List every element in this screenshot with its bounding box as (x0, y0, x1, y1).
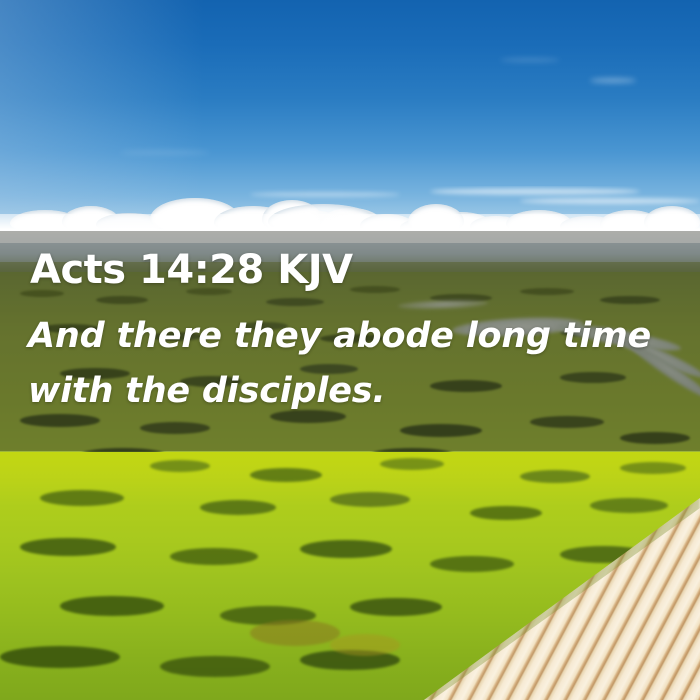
cirrus-icon (520, 198, 700, 204)
grass-clump (330, 492, 410, 507)
grass-clump (470, 506, 542, 520)
cirrus-icon (250, 192, 400, 197)
cirrus-icon (430, 188, 640, 195)
cloud-wisp-icon (120, 150, 210, 155)
grass-clump (40, 490, 124, 506)
verse-text: And there they abode long time with the … (28, 309, 664, 419)
cloud-wisp-icon (590, 78, 636, 83)
grass-clump (380, 458, 444, 470)
grass-clump (520, 470, 590, 483)
grass-clump (430, 556, 514, 572)
grass-clump (200, 500, 276, 515)
grass-clump (250, 468, 322, 482)
grass-clump (0, 646, 120, 668)
grass-clump (350, 598, 442, 616)
grass-clump (300, 540, 392, 558)
verse-text-block: Acts 14:28 KJV And there they abode long… (0, 231, 700, 451)
grass-clump (250, 620, 340, 646)
grass-clump (60, 596, 164, 616)
grass-clump (150, 460, 210, 472)
grass-clump (160, 656, 270, 677)
grass-clump (170, 548, 258, 565)
verse-reference: Acts 14:28 KJV (30, 250, 353, 290)
grass-clump (590, 498, 668, 513)
grass-clump (20, 538, 116, 556)
cloud-wisp-icon (500, 58, 560, 62)
grass-clump (330, 634, 400, 656)
grass-clump (620, 462, 686, 474)
verse-image-card: Acts 14:28 KJV And there they abode long… (0, 0, 700, 700)
